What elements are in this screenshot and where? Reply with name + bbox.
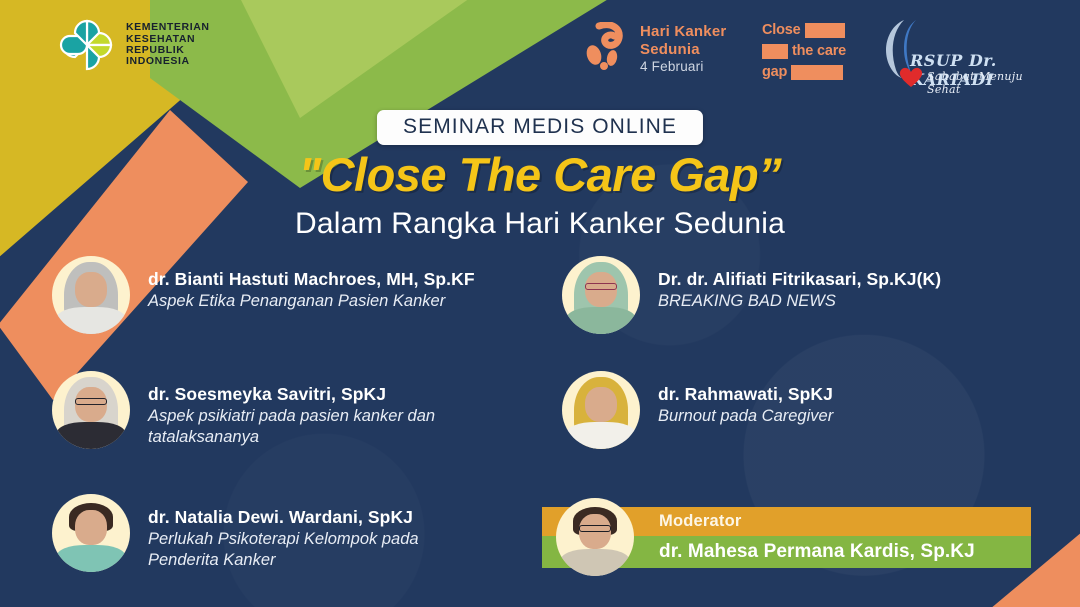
avatar (52, 371, 130, 449)
ctcg-row-2: the care (762, 43, 856, 60)
rsup-tagline: Sahabat Menuju Sehat (927, 70, 1050, 96)
ctcg-word-thecare: the care (792, 44, 846, 59)
page-title: "Close The Care Gap” (0, 147, 1080, 202)
kemenkes-logo: KEMENTERIAN KESEHATAN REPUBLIK INDONESIA (56, 14, 210, 76)
ctcg-word-close: Close (762, 23, 801, 38)
ctcg-word-gap: gap (762, 65, 787, 80)
ctcg-row-1: Close (762, 22, 856, 39)
speaker-entry: dr. Bianti Hastuti Machroes, MH, Sp.KF A… (52, 256, 475, 334)
speaker-topic: BREAKING BAD NEWS (658, 291, 941, 312)
speaker-entry: dr. Natalia Dewi. Wardani, SpKJ Perlukah… (52, 494, 478, 572)
speaker-name: Dr. dr. Alifiati Fitrikasari, Sp.KJ(K) (658, 269, 941, 289)
speaker-name: dr. Bianti Hastuti Machroes, MH, Sp.KF (148, 269, 475, 289)
hks-date: 4 Februari (640, 59, 726, 75)
hks-line-2: Sedunia (640, 41, 726, 59)
ctcg-bar-2 (762, 44, 788, 59)
avatar (562, 371, 640, 449)
avatar (52, 256, 130, 334)
kemenkes-line-4: INDONESIA (126, 56, 210, 67)
speaker-entry: dr. Rahmawati, SpKJ Burnout pada Caregiv… (562, 371, 833, 449)
speaker-entry: dr. Soesmeyka Savitri, SpKJ Aspek psikia… (52, 371, 478, 449)
speaker-name: dr. Rahmawati, SpKJ (658, 384, 833, 404)
close-the-care-gap-logo: Close the care gap (762, 22, 856, 85)
avatar (562, 256, 640, 334)
moderator-name: dr. Mahesa Permana Kardis, Sp.KJ (659, 541, 975, 563)
moderator-entry: Moderator dr. Mahesa Permana Kardis, Sp.… (556, 498, 1031, 568)
ctcg-bar-3 (791, 65, 843, 80)
rsup-kariadi-logo: RSUP Dr. KARIADI Sahabat Menuju Sehat (880, 18, 1050, 90)
speaker-topic: Aspek Etika Penanganan Pasien Kanker (148, 291, 475, 312)
hks-line-1: Hari Kanker (640, 23, 726, 41)
heart-icon (898, 66, 924, 88)
speaker-name: dr. Natalia Dewi. Wardani, SpKJ (148, 507, 478, 527)
avatar (52, 494, 130, 572)
cancer-ribbon-icon (583, 22, 631, 74)
ctcg-row-3: gap (762, 64, 856, 81)
moderator-label: Moderator (659, 512, 741, 531)
hari-kanker-sedunia-logo: Hari Kanker Sedunia 4 Februari (583, 22, 726, 75)
speaker-entry: Dr. dr. Alifiati Fitrikasari, Sp.KJ(K) B… (562, 256, 941, 334)
speaker-topic: Perlukah Psikoterapi Kelompok pada Pende… (148, 529, 478, 571)
seminar-badge: SEMINAR MEDIS ONLINE (377, 110, 703, 145)
speaker-name: dr. Soesmeyka Savitri, SpKJ (148, 384, 478, 404)
kemenkes-petal-icon (56, 14, 118, 76)
speaker-topic: Aspek psikiatri pada pasien kanker dan t… (148, 406, 478, 448)
speaker-topic: Burnout pada Caregiver (658, 406, 833, 427)
seminar-badge-label: SEMINAR MEDIS ONLINE (403, 115, 677, 138)
avatar (556, 498, 634, 576)
seminar-poster: KEMENTERIAN KESEHATAN REPUBLIK INDONESIA… (0, 0, 1080, 607)
ctcg-bar-1 (805, 23, 845, 38)
page-subtitle: Dalam Rangka Hari Kanker Sedunia (0, 207, 1080, 241)
kemenkes-line-1: KEMENTERIAN (126, 22, 210, 33)
